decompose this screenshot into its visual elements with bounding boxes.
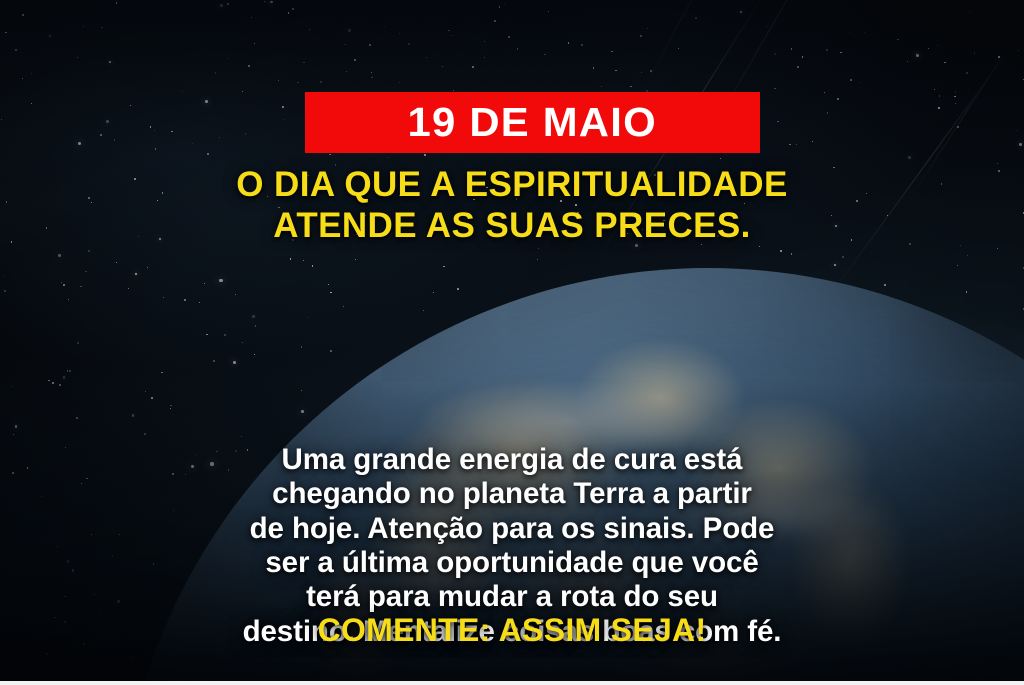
body-line-1: Uma grande energia de cura está [46,443,978,477]
body-line-5: terá para mudar a rota do seu [46,580,978,614]
body-line-3: de hoje. Atenção para os sinais. Pode [46,512,978,546]
date-banner: 19 DE MAIO [305,92,760,153]
body-line-2: chegando no planeta Terra a partir [46,477,978,511]
call-to-action-text: COMENTE: ASSIM SEJA! [0,614,1024,646]
headline: O DIA QUE A ESPIRITUALIDADE ATENDE AS SU… [0,165,1024,246]
bottom-edge-strip [0,681,1024,685]
poster-image: 19 DE MAIO O DIA QUE A ESPIRITUALIDADE A… [0,0,1024,685]
headline-line-2: ATENDE AS SUAS PRECES. [0,206,1024,247]
poster-content: 19 DE MAIO O DIA QUE A ESPIRITUALIDADE A… [0,0,1024,685]
date-banner-text: 19 DE MAIO [408,102,657,143]
headline-line-1: O DIA QUE A ESPIRITUALIDADE [0,165,1024,206]
body-line-4: ser a última oportunidade que você [46,546,978,580]
